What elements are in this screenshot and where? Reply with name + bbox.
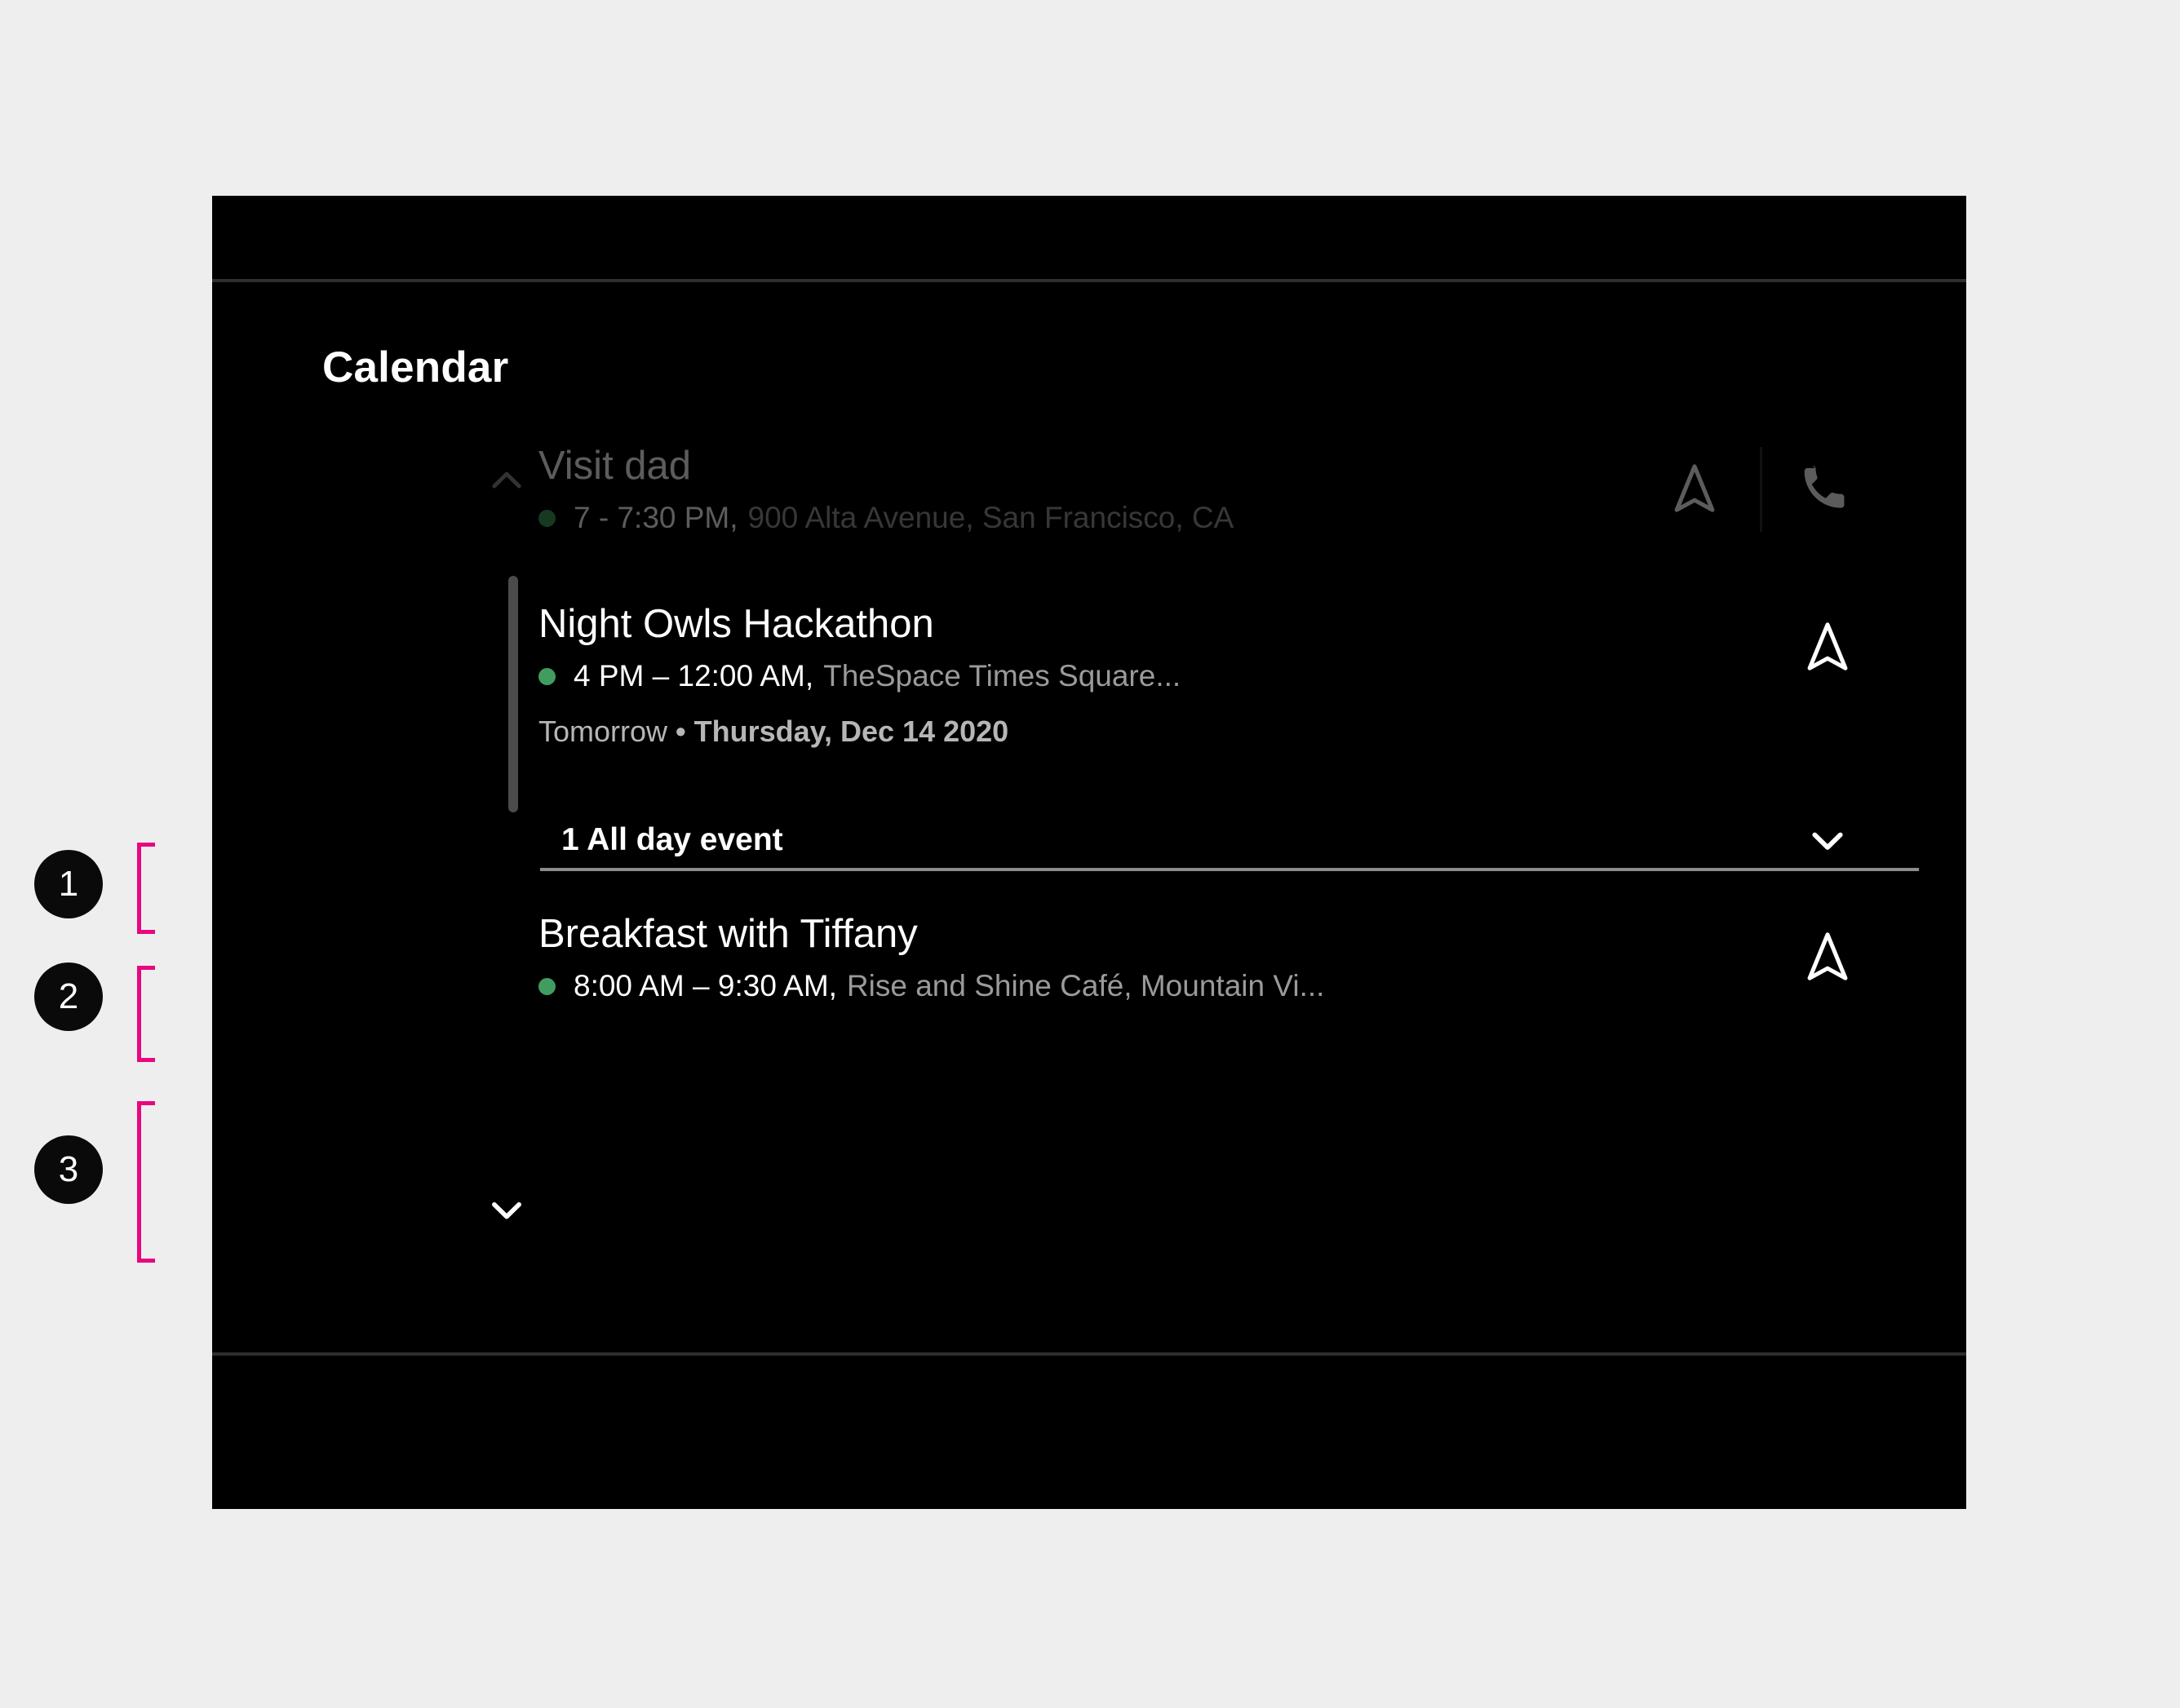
- event-title: Breakfast with Tiffany: [538, 912, 1788, 957]
- event-actions: [1655, 447, 1867, 532]
- callout-3: 3: [34, 1135, 103, 1204]
- day-header-separator: •: [667, 715, 694, 748]
- navigate-button[interactable]: [1655, 450, 1734, 529]
- event-row[interactable]: Breakfast with Tiffany 8:00 AM – 9:30 AM…: [538, 912, 1966, 1003]
- event-subtitle: 4 PM – 12:00 AM, TheSpace Times Square..…: [538, 660, 1788, 693]
- scrollbar-thumb[interactable]: [508, 576, 518, 812]
- event-location: TheSpace Times Square...: [823, 660, 1181, 693]
- event-text: Breakfast with Tiffany 8:00 AM – 9:30 AM…: [538, 912, 1788, 1003]
- calendar-screen: Calendar Visit dad: [212, 196, 1966, 1509]
- scrollbar[interactable]: [508, 576, 518, 1033]
- event-time: 4 PM – 12:00 AM,: [574, 660, 813, 693]
- navigate-button[interactable]: [1788, 918, 1867, 997]
- navigate-button[interactable]: [1788, 608, 1867, 687]
- event-title: Night Owls Hackathon: [538, 602, 1788, 647]
- event-text: Visit dad 7 - 7:30 PM, 900 Alta Avenue, …: [538, 444, 1655, 535]
- callout-2: 2: [34, 962, 103, 1031]
- chevron-down-icon: [1804, 816, 1851, 864]
- event-time: 7 - 7:30 PM,: [574, 502, 738, 535]
- day-header-date: Thursday, Dec 14 2020: [694, 715, 1009, 748]
- event-location: Rise and Shine Café, Mountain Vi...: [847, 970, 1325, 1003]
- navigation-icon: [1798, 618, 1857, 677]
- navigation-icon: [1665, 460, 1724, 519]
- callout-badge-3: 3: [34, 1135, 103, 1204]
- event-subtitle: 7 - 7:30 PM, 900 Alta Avenue, San Franci…: [538, 502, 1655, 535]
- event-subtitle: 8:00 AM – 9:30 AM, Rise and Shine Café, …: [538, 970, 1788, 1003]
- callout-1: 1: [34, 850, 103, 918]
- calendar-content: Calendar Visit dad: [212, 282, 1966, 1352]
- event-time: 8:00 AM – 9:30 AM,: [574, 970, 837, 1003]
- event-text: Night Owls Hackathon 4 PM – 12:00 AM, Th…: [538, 602, 1788, 693]
- call-button[interactable]: [1788, 450, 1867, 529]
- action-divider: [1760, 447, 1762, 532]
- all-day-divider: [540, 868, 1919, 871]
- event-location: 900 Alta Avenue, San Francisco, CA: [748, 502, 1234, 535]
- day-header-relative: Tomorrow: [538, 715, 667, 748]
- callout-bracket-1: [137, 843, 155, 934]
- chevron-down-icon: [484, 1187, 529, 1232]
- chevron-up-icon: [484, 458, 529, 503]
- calendar-color-dot: [538, 668, 556, 685]
- calendar-color-dot: [538, 978, 556, 995]
- page-title: Calendar: [322, 343, 508, 392]
- day-header: Tomorrow • Thursday, Dec 14 2020: [538, 715, 1008, 749]
- event-list: Visit dad 7 - 7:30 PM, 900 Alta Avenue, …: [538, 282, 1966, 1352]
- event-actions: [1788, 608, 1867, 687]
- event-row[interactable]: Night Owls Hackathon 4 PM – 12:00 AM, Th…: [538, 602, 1966, 693]
- event-row[interactable]: Visit dad 7 - 7:30 PM, 900 Alta Avenue, …: [538, 444, 1966, 535]
- callout-badge-2: 2: [34, 962, 103, 1031]
- event-actions: [1788, 918, 1867, 997]
- phone-icon: [1800, 462, 1855, 517]
- callout-bracket-3: [137, 1101, 155, 1263]
- callout-badge-1: 1: [34, 850, 103, 918]
- callout-bracket-2: [137, 966, 155, 1062]
- scroll-down-button[interactable]: [481, 1184, 532, 1235]
- all-day-label: 1 All day event: [561, 822, 1788, 858]
- navigation-icon: [1798, 928, 1857, 987]
- scroll-up-button[interactable]: [481, 455, 532, 506]
- calendar-color-dot: [538, 510, 556, 527]
- bottom-divider: [212, 1352, 1966, 1356]
- event-title: Visit dad: [538, 444, 1655, 489]
